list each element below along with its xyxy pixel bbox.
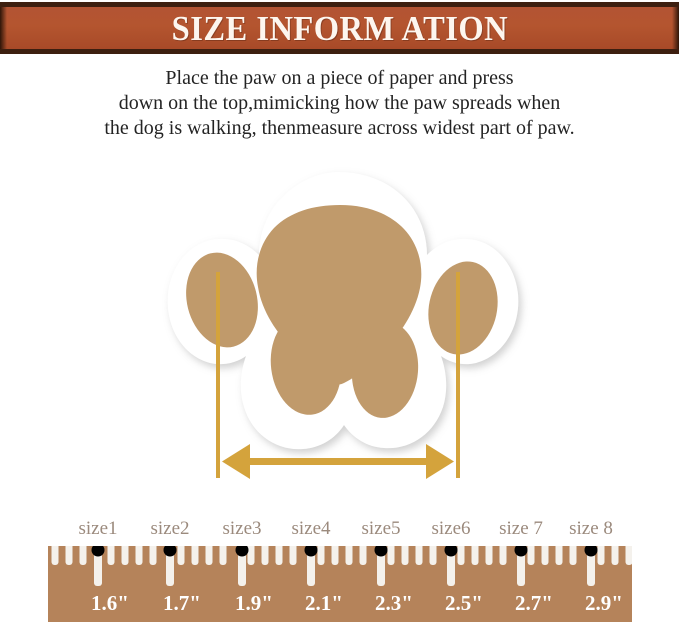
ruler-size-marker-dot <box>375 546 388 557</box>
ruler-tick-minor <box>500 546 507 565</box>
instruction-line-3: the dog is walking, thenmeasure across w… <box>0 116 679 141</box>
ruler-body: 1.6"1.7"1.9"2.1"2.3"2.5"2.7"2.9" <box>48 546 632 622</box>
paw-measurement-diagram <box>0 160 679 495</box>
ruler-inch-label: 2.9" <box>585 591 623 615</box>
ruler-tick-minor <box>570 546 577 565</box>
size-label: size 7 <box>499 518 543 540</box>
size-label: size2 <box>150 518 189 540</box>
ruler-tick-minor <box>262 546 269 565</box>
ruler-tick-minor <box>192 546 199 565</box>
measure-guide-line-right <box>456 272 460 478</box>
ruler-tick-minor <box>458 546 465 565</box>
measure-width-arrow <box>222 444 454 479</box>
ruler-tick-minor <box>66 546 73 565</box>
ruler-inch-label: 2.5" <box>445 591 483 615</box>
ruler-tick-minor <box>486 546 493 565</box>
ruler-inch-label: 2.3" <box>375 591 413 615</box>
ruler-size-marker-dot <box>92 546 105 557</box>
size-label: size4 <box>291 518 330 540</box>
ruler-inch-label: 1.6" <box>91 591 129 615</box>
ruler-tick-minor <box>430 546 437 565</box>
ruler-tick-minor <box>52 546 59 565</box>
ruler-tick-minor <box>108 546 115 565</box>
ruler-tick-minor <box>220 546 227 565</box>
ruler-tick-minor <box>402 546 409 565</box>
page-title: SIZE INFORM ATION <box>171 11 507 46</box>
ruler-size-marker-dot <box>515 546 528 557</box>
ruler-tick-minor <box>542 546 549 565</box>
ruler-tick-minor <box>612 546 619 565</box>
ruler-tick-minor <box>206 546 213 565</box>
size-label: size6 <box>431 518 470 540</box>
instruction-line-2: down on the top,mimicking how the paw sp… <box>0 91 679 116</box>
ruler-tick-minor <box>178 546 185 565</box>
ruler-tick-minor <box>360 546 367 565</box>
measure-guide-line-left <box>216 272 220 478</box>
instruction-line-1: Place the paw on a piece of paper and pr… <box>0 66 679 91</box>
ruler-inch-label: 1.9" <box>235 591 273 615</box>
ruler-tick-minor <box>332 546 339 565</box>
ruler-inch-label: 1.7" <box>163 591 201 615</box>
size-label: size3 <box>222 518 261 540</box>
ruler-tick-minor <box>136 546 143 565</box>
ruler-tick-minor <box>80 546 87 565</box>
ruler-tick-minor <box>416 546 423 565</box>
ruler-tick-minor <box>318 546 325 565</box>
paw-illustration <box>0 160 679 495</box>
ruler-tick-minor <box>626 546 633 565</box>
ruler-tick-minor <box>122 546 129 565</box>
ruler-size-marker-dot <box>585 546 598 557</box>
ruler-size-marker-dot <box>445 546 458 557</box>
ruler-tick-minor <box>248 546 255 565</box>
size-ruler: size1size2size3size4size5size6size 7size… <box>0 518 679 622</box>
ruler-tick-minor <box>598 546 605 565</box>
ruler-tick-minor <box>556 546 563 565</box>
size-information-banner: SIZE INFORM ATION <box>0 2 679 54</box>
ruler-inch-label: 2.7" <box>515 591 553 615</box>
ruler-tick-minor <box>276 546 283 565</box>
size-label: size5 <box>361 518 400 540</box>
size-label: size 8 <box>569 518 613 540</box>
ruler-tick-minor <box>388 546 395 565</box>
size-label-row: size1size2size3size4size5size6size 7size… <box>0 518 679 544</box>
ruler-inch-label: 2.1" <box>305 591 343 615</box>
size-label: size1 <box>78 518 117 540</box>
ruler-tick-minor <box>472 546 479 565</box>
ruler-size-marker-dot <box>305 546 318 557</box>
ruler-tick-minor <box>346 546 353 565</box>
ruler-size-marker-dot <box>164 546 177 557</box>
instructions-paragraph: Place the paw on a piece of paper and pr… <box>0 66 679 141</box>
ruler-tick-minor <box>290 546 297 565</box>
ruler-tick-minor <box>528 546 535 565</box>
ruler-tick-minor <box>150 546 157 565</box>
